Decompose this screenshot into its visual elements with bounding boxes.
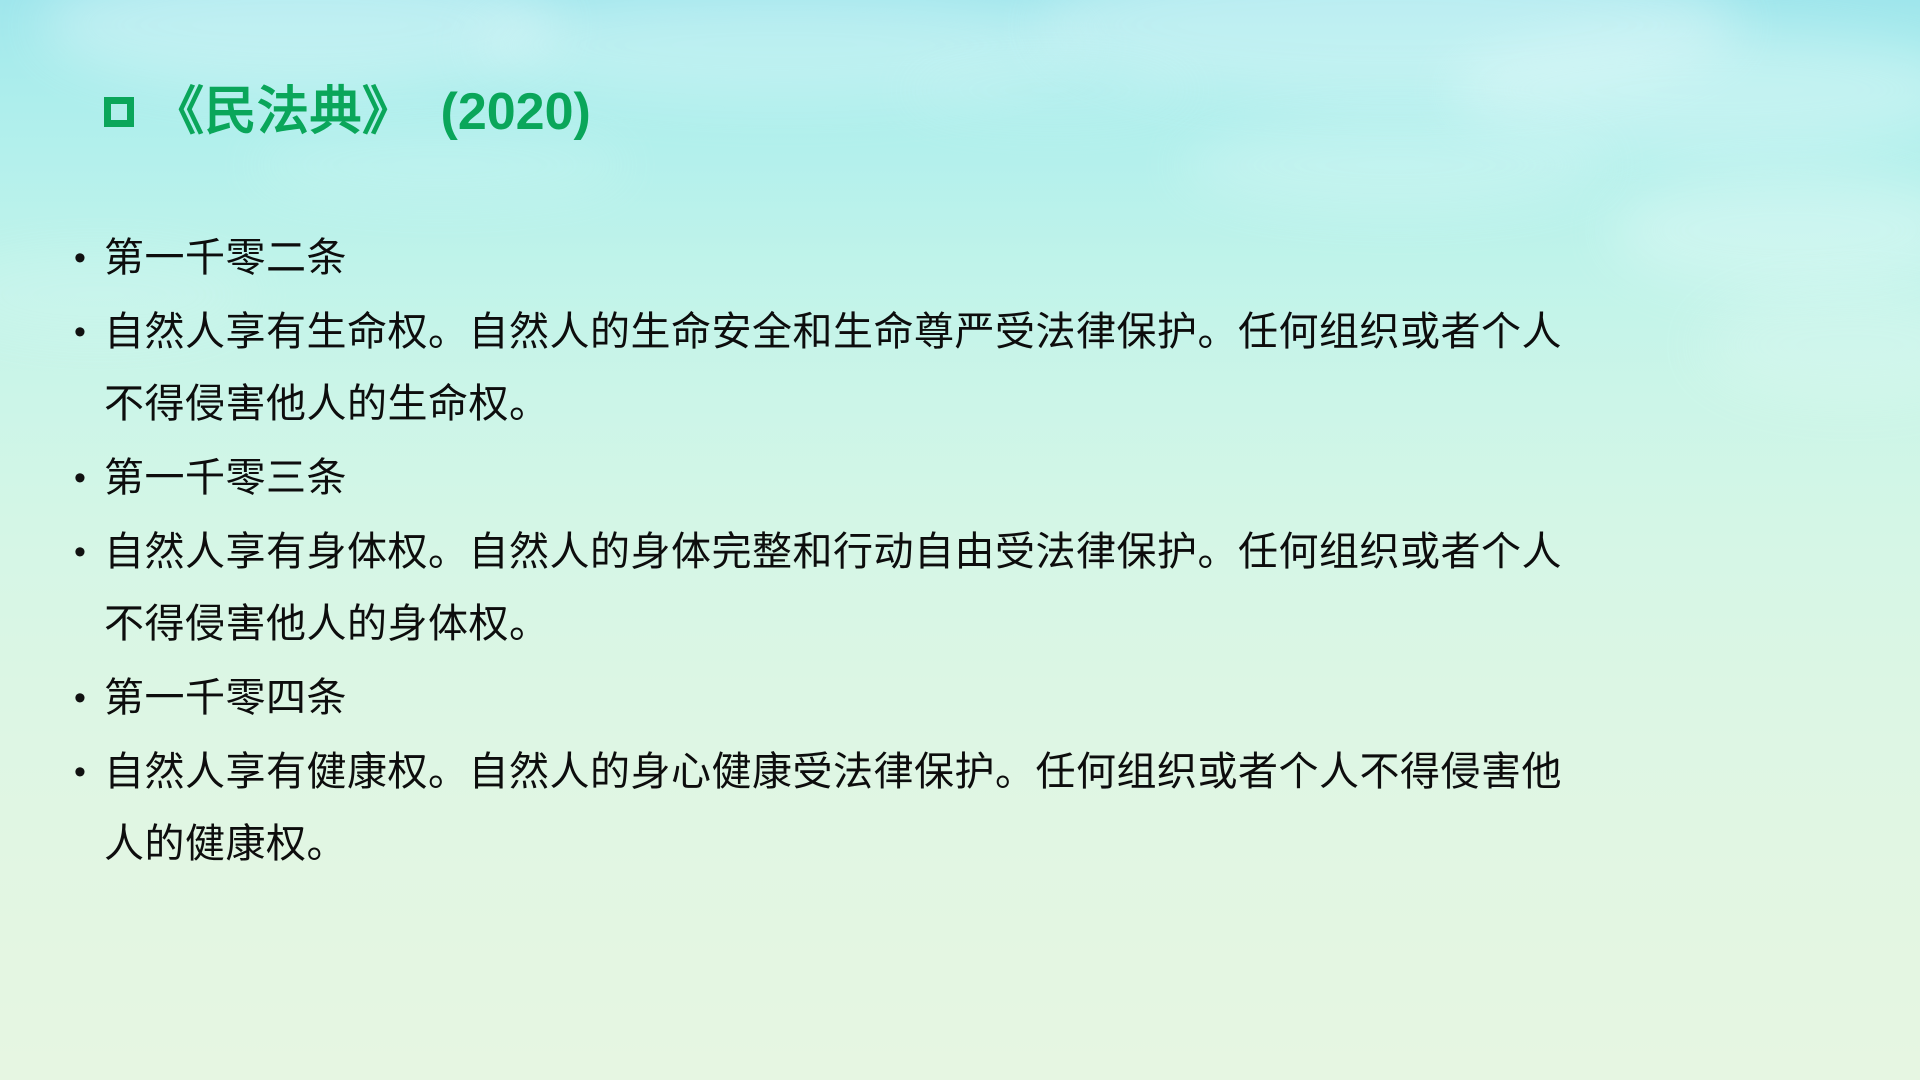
bullet-glyph: • — [56, 296, 104, 368]
bullet-glyph: • — [56, 662, 104, 734]
cloud-decoration — [1040, 0, 1740, 100]
list-item-line: 第一千零三条 — [104, 456, 347, 500]
list-item-line-wrapped: 人的健康权。 — [104, 808, 1562, 880]
square-bullet-icon — [104, 97, 134, 127]
list-item: • 自然人享有身体权。自然人的身体完整和行动自由受法律保护。任何组织或者个人 不… — [56, 516, 1880, 660]
list-item-line-wrapped: 不得侵害他人的身体权。 — [104, 588, 1562, 660]
bullet-glyph: • — [56, 442, 104, 514]
slide-title-text: 《民法典》 — [152, 86, 415, 138]
slide-body: • 第一千零二条 • 自然人享有生命权。自然人的生命安全和生命尊严受法律保护。任… — [56, 222, 1880, 882]
list-item-text: 自然人享有健康权。自然人的身心健康受法律保护。任何组织或者个人不得侵害他 人的健… — [104, 736, 1562, 880]
cloud-decoration — [1450, 30, 1920, 150]
list-item-line: 自然人享有健康权。自然人的身心健康受法律保护。任何组织或者个人不得侵害他 — [104, 750, 1562, 794]
list-item-line: 自然人享有生命权。自然人的生命安全和生命尊严受法律保护。任何组织或者个人 — [104, 310, 1562, 354]
list-item-text: 第一千零二条 — [104, 222, 347, 294]
cloud-decoration — [40, 0, 560, 90]
list-item-line-wrapped: 不得侵害他人的生命权。 — [104, 368, 1562, 440]
cloud-decoration — [900, 60, 1200, 120]
slide-title-year: (2020) — [441, 86, 591, 138]
bullet-glyph: • — [56, 222, 104, 294]
bullet-glyph: • — [56, 736, 104, 808]
cloud-decoration — [1180, 120, 1610, 210]
presentation-slide: 《民法典》 (2020) • 第一千零二条 • 自然人享有生命权。自然人的生命安… — [0, 0, 1920, 1080]
slide-title: 《民法典》 (2020) — [104, 86, 591, 138]
list-item-line: 自然人享有身体权。自然人的身体完整和行动自由受法律保护。任何组织或者个人 — [104, 530, 1562, 574]
list-item-line: 第一千零二条 — [104, 236, 347, 280]
list-item-text: 自然人享有身体权。自然人的身体完整和行动自由受法律保护。任何组织或者个人 不得侵… — [104, 516, 1562, 660]
bullet-glyph: • — [56, 516, 104, 588]
list-item: • 第一千零二条 — [56, 222, 1880, 294]
list-item-line: 第一千零四条 — [104, 676, 347, 720]
list-item: • 自然人享有健康权。自然人的身心健康受法律保护。任何组织或者个人不得侵害他 人… — [56, 736, 1880, 880]
list-item: • 第一千零四条 — [56, 662, 1880, 734]
list-item: • 第一千零三条 — [56, 442, 1880, 514]
list-item-text: 第一千零三条 — [104, 442, 347, 514]
list-item: • 自然人享有生命权。自然人的生命安全和生命尊严受法律保护。任何组织或者个人 不… — [56, 296, 1880, 440]
list-item-text: 自然人享有生命权。自然人的生命安全和生命尊严受法律保护。任何组织或者个人 不得侵… — [104, 296, 1562, 440]
list-item-text: 第一千零四条 — [104, 662, 347, 734]
